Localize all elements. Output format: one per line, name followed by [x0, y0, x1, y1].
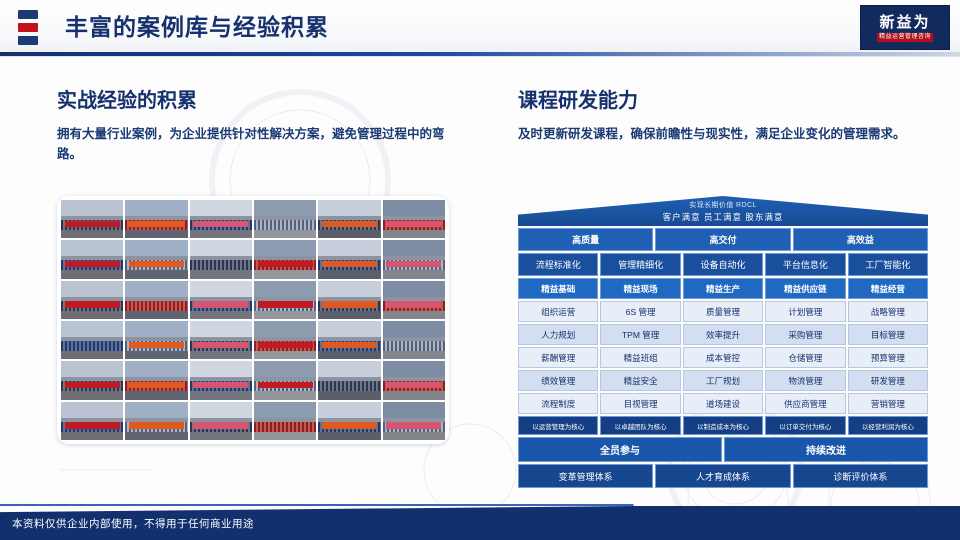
- diagram-roof-line2: 客户满意 员工满意 股东满意: [518, 211, 928, 223]
- diagram-matrix-row: 人力规划TPM 管理效率提升采购管理目标管理: [518, 324, 928, 345]
- diagram-system-cell-2: 人才育成体系: [655, 464, 790, 488]
- photo-grid: [61, 200, 445, 440]
- diagram-row-goals: 高质量高交付高效益: [518, 228, 928, 251]
- photo-thumbnail: [125, 361, 187, 399]
- brand-logo-tagline: 精益运营管理咨询: [877, 33, 933, 42]
- diagram-pillar-cell-2: 管理精细化: [600, 253, 680, 276]
- photo-thumbnail: [383, 200, 445, 238]
- photo-thumbnail: [190, 240, 252, 278]
- diagram-row-modules: 精益基础精益现场精益生产精益供应链精益经营: [518, 278, 928, 299]
- diagram-system-cell-3: 诊断评价体系: [793, 464, 928, 488]
- photo-thumbnail: [254, 281, 316, 319]
- photo-thumbnail: [318, 281, 380, 319]
- photo-thumbnail: [61, 281, 123, 319]
- diagram-core-cell-1: 以运营管理为核心: [518, 416, 598, 435]
- diagram-matrix-cell-3-4: 仓储管理: [765, 347, 845, 368]
- diagram-pillar-cell-3: 设备自动化: [683, 253, 763, 276]
- photo-thumbnail: [190, 200, 252, 238]
- diagram-goal-cell-3: 高效益: [793, 228, 928, 251]
- photo-thumbnail: [254, 402, 316, 440]
- diagram-row-participation: 全员参与持续改进: [518, 437, 928, 462]
- photo-thumbnail: [318, 200, 380, 238]
- photo-thumbnail: [383, 281, 445, 319]
- photo-thumbnail: [125, 321, 187, 359]
- diagram-matrix-cell-2-2: TPM 管理: [600, 324, 680, 345]
- diagram-matrix-cell-2-1: 人力规划: [518, 324, 598, 345]
- diagram-matrix-cell-1-2: 6S 管理: [600, 301, 680, 322]
- diagram-matrix-cell-1-5: 战略管理: [848, 301, 928, 322]
- brand-logo-name: 新益为: [879, 14, 930, 31]
- photo-thumbnail: [61, 361, 123, 399]
- left-column: 实战经验的积累 拥有大量行业案例，为企业提供针对性解决方案，避免管理过程中的弯路…: [57, 88, 457, 164]
- diagram-matrix-cell-4-3: 工厂规划: [683, 370, 763, 391]
- header-divider-thin: [0, 56, 960, 57]
- diagram-participation-cell-1: 全员参与: [518, 437, 722, 462]
- photo-thumbnail: [383, 361, 445, 399]
- diagram-matrix-cell-4-1: 绩效管理: [518, 370, 598, 391]
- photo-thumbnail: [383, 321, 445, 359]
- diagram-roof: 实现长期价值 RDCL 客户满意 员工满意 股东满意: [518, 196, 928, 226]
- page-title: 丰富的案例库与经验积累: [65, 9, 329, 45]
- diagram-matrix-cell-5-1: 流程制度: [518, 393, 598, 414]
- photo-thumbnail: [190, 361, 252, 399]
- diagram-goal-cell-1: 高质量: [518, 228, 653, 251]
- photo-thumbnail: [125, 402, 187, 440]
- footer-disclaimer: 本资料仅供企业内部使用，不得用于任何商业用途: [12, 516, 254, 531]
- diagram-matrix: 组织运营6S 管理质量管理计划管理战略管理人力规划TPM 管理效率提升采购管理目…: [518, 301, 928, 414]
- photo-thumbnail: [190, 402, 252, 440]
- diagram-matrix-cell-3-3: 成本管控: [683, 347, 763, 368]
- diagram-matrix-cell-5-4: 供应商管理: [765, 393, 845, 414]
- diagram-matrix-row: 组织运营6S 管理质量管理计划管理战略管理: [518, 301, 928, 322]
- lean-management-diagram: 实现长期价值 RDCL 客户满意 员工满意 股东满意 高质量高交付高效益 流程标…: [518, 196, 928, 444]
- case-photo-collage: [57, 196, 449, 444]
- diagram-matrix-cell-4-2: 精益安全: [600, 370, 680, 391]
- photo-thumbnail: [318, 402, 380, 440]
- diagram-matrix-cell-4-5: 研发管理: [848, 370, 928, 391]
- diagram-core-cell-2: 以卓越团队为核心: [600, 416, 680, 435]
- photo-thumbnail: [318, 361, 380, 399]
- photo-thumbnail: [254, 361, 316, 399]
- right-column: 课程研发能力 及时更新研发课程，确保前瞻性与现实性，满足企业变化的管理需求。: [518, 88, 928, 144]
- photo-thumbnail: [190, 281, 252, 319]
- diagram-matrix-cell-3-1: 薪酬管理: [518, 347, 598, 368]
- right-body-text: 及时更新研发课程，确保前瞻性与现实性，满足企业变化的管理需求。: [518, 124, 928, 144]
- diagram-matrix-row: 薪酬管理精益班组成本管控仓储管理预算管理: [518, 347, 928, 368]
- diagram-matrix-cell-2-4: 采购管理: [765, 324, 845, 345]
- diagram-participation-cell-2: 持续改进: [724, 437, 928, 462]
- photo-thumbnail: [254, 240, 316, 278]
- diagram-pillar-cell-5: 工厂智能化: [848, 253, 928, 276]
- diagram-matrix-cell-2-3: 效率提升: [683, 324, 763, 345]
- diagram-matrix-cell-3-2: 精益班组: [600, 347, 680, 368]
- diagram-matrix-cell-5-3: 道场建设: [683, 393, 763, 414]
- right-heading: 课程研发能力: [518, 88, 928, 114]
- diagram-matrix-cell-4-4: 物流管理: [765, 370, 845, 391]
- diagram-row-systems: 变革管理体系人才育成体系诊断评价体系: [518, 464, 928, 488]
- diagram-pillar-cell-4: 平台信息化: [765, 253, 845, 276]
- diagram-matrix-cell-1-4: 计划管理: [765, 301, 845, 322]
- photo-thumbnail: [125, 281, 187, 319]
- diagram-module-cell-2: 精益现场: [600, 278, 680, 299]
- photo-thumbnail: [383, 402, 445, 440]
- slide-header: 丰富的案例库与经验积累 新益为 精益运营管理咨询: [0, 0, 960, 55]
- diagram-module-cell-5: 精益经营: [848, 278, 928, 299]
- diagram-module-cell-3: 精益生产: [683, 278, 763, 299]
- diagram-module-cell-1: 精益基础: [518, 278, 598, 299]
- photo-thumbnail: [190, 321, 252, 359]
- brand-logo: 新益为 精益运营管理咨询: [860, 5, 950, 50]
- diagram-system-cell-1: 变革管理体系: [518, 464, 653, 488]
- header-mark-blue-top: [18, 10, 38, 19]
- diagram-pillar-cell-1: 流程标准化: [518, 253, 598, 276]
- left-heading: 实战经验的积累: [57, 88, 457, 114]
- diagram-matrix-cell-5-2: 目视管理: [600, 393, 680, 414]
- photo-thumbnail: [318, 321, 380, 359]
- diagram-module-cell-4: 精益供应链: [765, 278, 845, 299]
- photo-thumbnail: [61, 321, 123, 359]
- diagram-matrix-cell-2-5: 目标管理: [848, 324, 928, 345]
- header-marks: [18, 10, 40, 46]
- photo-thumbnail: [125, 200, 187, 238]
- photo-thumbnail: [254, 321, 316, 359]
- diagram-core-cell-5: 以经营利润为核心: [848, 416, 928, 435]
- diagram-core-cell-3: 以制造成本为核心: [683, 416, 763, 435]
- diagram-goal-cell-2: 高交付: [655, 228, 790, 251]
- slide-root: 丰富的案例库与经验积累 新益为 精益运营管理咨询 实战经验的积累 拥有大量行业案…: [0, 0, 960, 540]
- diagram-row-pillars: 流程标准化管理精细化设备自动化平台信息化工厂智能化: [518, 253, 928, 276]
- photo-thumbnail: [318, 240, 380, 278]
- diagram-matrix-cell-1-3: 质量管理: [683, 301, 763, 322]
- diagram-core-cell-4: 以订单交付为核心: [765, 416, 845, 435]
- diagram-matrix-cell-1-1: 组织运营: [518, 301, 598, 322]
- header-mark-red: [18, 23, 38, 32]
- header-mark-blue-bottom: [18, 36, 38, 45]
- footer-accent-line: [0, 504, 960, 506]
- diagram-row-cores: 以运营管理为核心以卓越团队为核心以制造成本为核心以订单交付为核心以经营利润为核心: [518, 416, 928, 435]
- diagram-matrix-cell-5-5: 营销管理: [848, 393, 928, 414]
- diagram-matrix-cell-3-5: 预算管理: [848, 347, 928, 368]
- diagram-matrix-row: 流程制度目视管理道场建设供应商管理营销管理: [518, 393, 928, 414]
- photo-thumbnail: [254, 200, 316, 238]
- left-body-text: 拥有大量行业案例，为企业提供针对性解决方案，避免管理过程中的弯路。: [57, 124, 457, 164]
- photo-thumbnail: [61, 200, 123, 238]
- photo-thumbnail: [61, 240, 123, 278]
- photo-thumbnail: [383, 240, 445, 278]
- photo-thumbnail: [61, 402, 123, 440]
- diagram-roof-line1: 实现长期价值 RDCL: [518, 200, 928, 210]
- photo-thumbnail: [125, 240, 187, 278]
- diagram-matrix-row: 绩效管理精益安全工厂规划物流管理研发管理: [518, 370, 928, 391]
